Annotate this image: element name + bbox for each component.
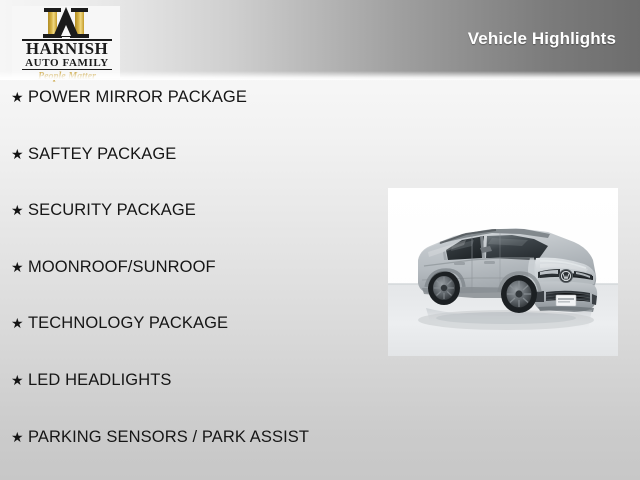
logo-subname: AUTO FAMILY [21,57,113,69]
logo-tagline: People Matter [21,70,113,83]
list-item-label: MOONROOF/SUNROOF [28,258,390,277]
star-bullet-icon: ★ [11,430,28,444]
list-item-label: PARKING SENSORS / PARK ASSIST [28,428,390,447]
monogram-crossbar [62,20,70,24]
list-item-label: TECHNOLOGY PACKAGE [28,314,390,333]
star-bullet-icon: ★ [11,90,28,104]
harnish-h-monogram-icon [12,6,120,40]
list-item-label: LED HEADLIGHTS [28,371,390,390]
page-title: Vehicle Highlights [468,29,616,49]
list-item-label: SECURITY PACKAGE [28,201,390,220]
list-item-label: POWER MIRROR PACKAGE [28,88,390,107]
monogram-a-counter [61,25,71,36]
star-bullet-icon: ★ [11,316,28,330]
list-item: ★ TECHNOLOGY PACKAGE [0,314,390,371]
vehicle-photo[interactable] [388,188,618,356]
star-bullet-icon: ★ [11,373,28,387]
star-bullet-icon: ★ [11,203,28,217]
star-bullet-icon: ★ [11,260,28,274]
list-item: ★ SECURITY PACKAGE [0,201,390,258]
page-header: HARNISH AUTO FAMILY People Matter Vehicl… [0,0,640,80]
list-item: ★ PARKING SENSORS / PARK ASSIST [0,428,390,480]
star-bullet-icon: ★ [11,147,28,161]
list-item: ★ SAFTEY PACKAGE [0,145,390,202]
list-item-label: SAFTEY PACKAGE [28,145,390,164]
list-item: ★ POWER MIRROR PACKAGE [0,88,390,145]
vehicle-photo-illustration [388,188,618,356]
dealer-logo[interactable]: HARNISH AUTO FAMILY People Matter [12,6,120,78]
list-item: ★ MOONROOF/SUNROOF [0,258,390,315]
vehicle-highlights-list: ★ POWER MIRROR PACKAGE ★ SAFTEY PACKAGE … [0,88,390,480]
list-item: ★ LED HEADLIGHTS [0,371,390,428]
logo-name: HARNISH [21,40,113,58]
vehicle-highlights-page: HARNISH AUTO FAMILY People Matter Vehicl… [0,0,640,480]
